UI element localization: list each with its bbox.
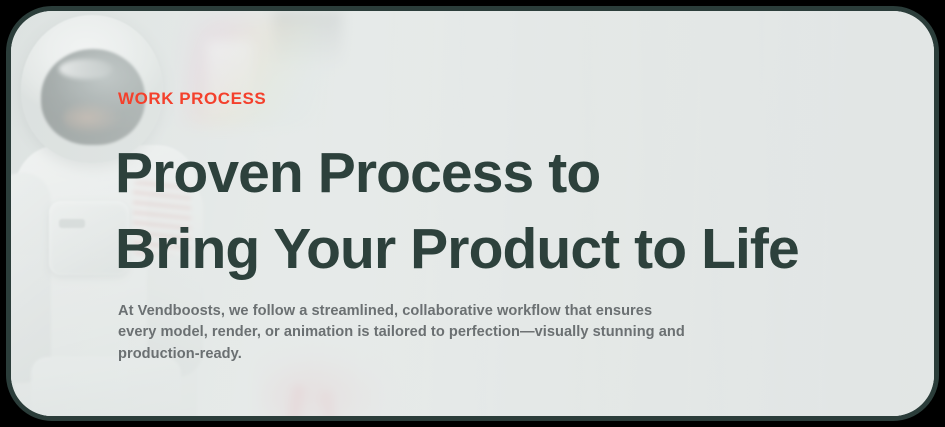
page-title: Proven Process to Bring Your Product to …	[115, 135, 799, 287]
description-line-3: production-ready.	[118, 344, 848, 365]
hero-card: WORK PROCESS Proven Process to Bring You…	[6, 6, 939, 421]
description-line-2: every model, render, or animation is tai…	[118, 322, 848, 343]
hero-description: At Vendboosts, we follow a streamlined, …	[118, 301, 848, 365]
headline-line-2: Bring Your Product to Life	[115, 211, 799, 287]
headline-line-1: Proven Process to	[115, 135, 799, 211]
hero-content: WORK PROCESS Proven Process to Bring You…	[118, 11, 908, 416]
section-eyebrow: WORK PROCESS	[118, 89, 266, 109]
description-line-1: At Vendboosts, we follow a streamlined, …	[118, 301, 848, 322]
